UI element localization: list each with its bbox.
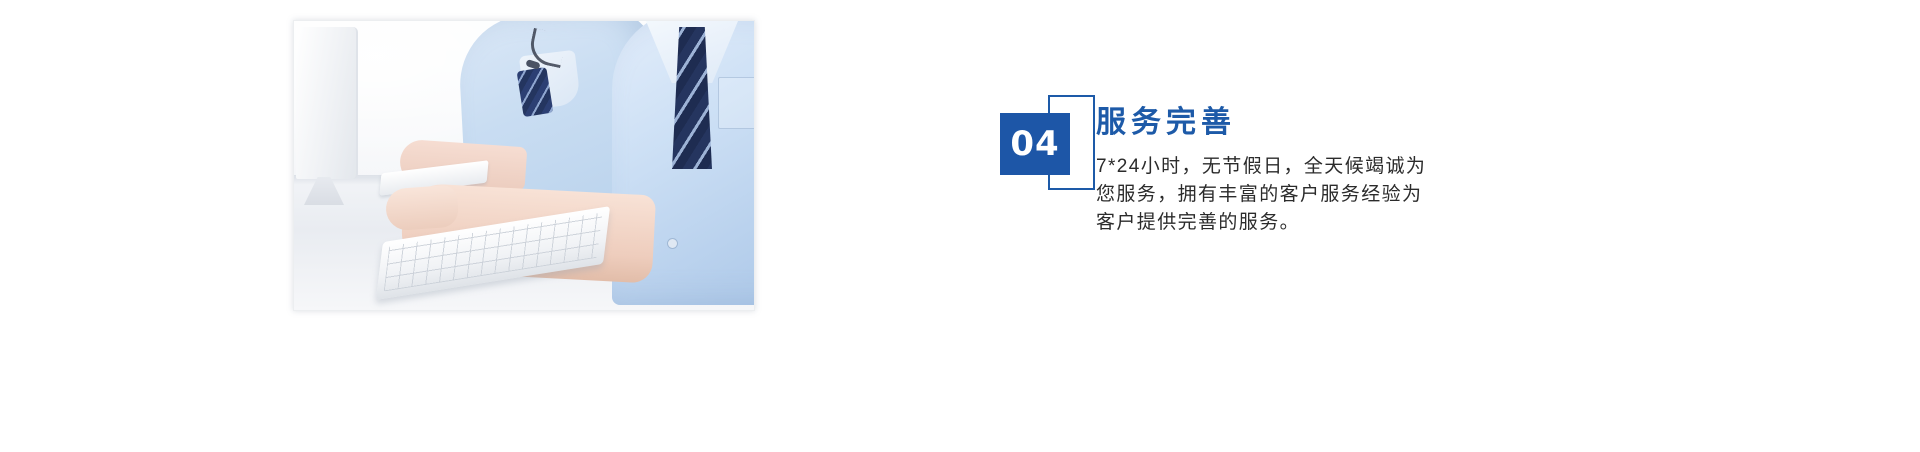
hand-on-mouse — [385, 185, 460, 232]
feature-description-line: 7*24小时，无节假日，全天候竭诚为 — [1096, 153, 1526, 181]
shirt-pocket — [718, 77, 755, 129]
photo-illustration — [294, 21, 754, 310]
feature-photo — [293, 20, 755, 311]
feature-title: 服务完善 — [1096, 103, 1526, 143]
monitor-icon — [296, 27, 358, 179]
feature-text-block: 服务完善 7*24小时，无节假日，全天候竭诚为 您服务，拥有丰富的客户服务经验为… — [1096, 90, 1526, 237]
feature-description: 7*24小时，无节假日，全天候竭诚为 您服务，拥有丰富的客户服务经验为 客户提供… — [1096, 153, 1526, 237]
feature-description-line: 您服务，拥有丰富的客户服务经验为 — [1096, 181, 1526, 209]
feature-description-line: 客户提供完善的服务。 — [1096, 209, 1526, 237]
badge-number-label: 04 — [1010, 127, 1059, 161]
feature-number-badge: 04 — [1000, 90, 1096, 190]
badge-filled-square: 04 — [1000, 113, 1070, 175]
page-root: 04 服务完善 7*24小时，无节假日，全天候竭诚为 您服务，拥有丰富的客户服务… — [0, 0, 1920, 452]
cuff-button — [668, 239, 677, 248]
